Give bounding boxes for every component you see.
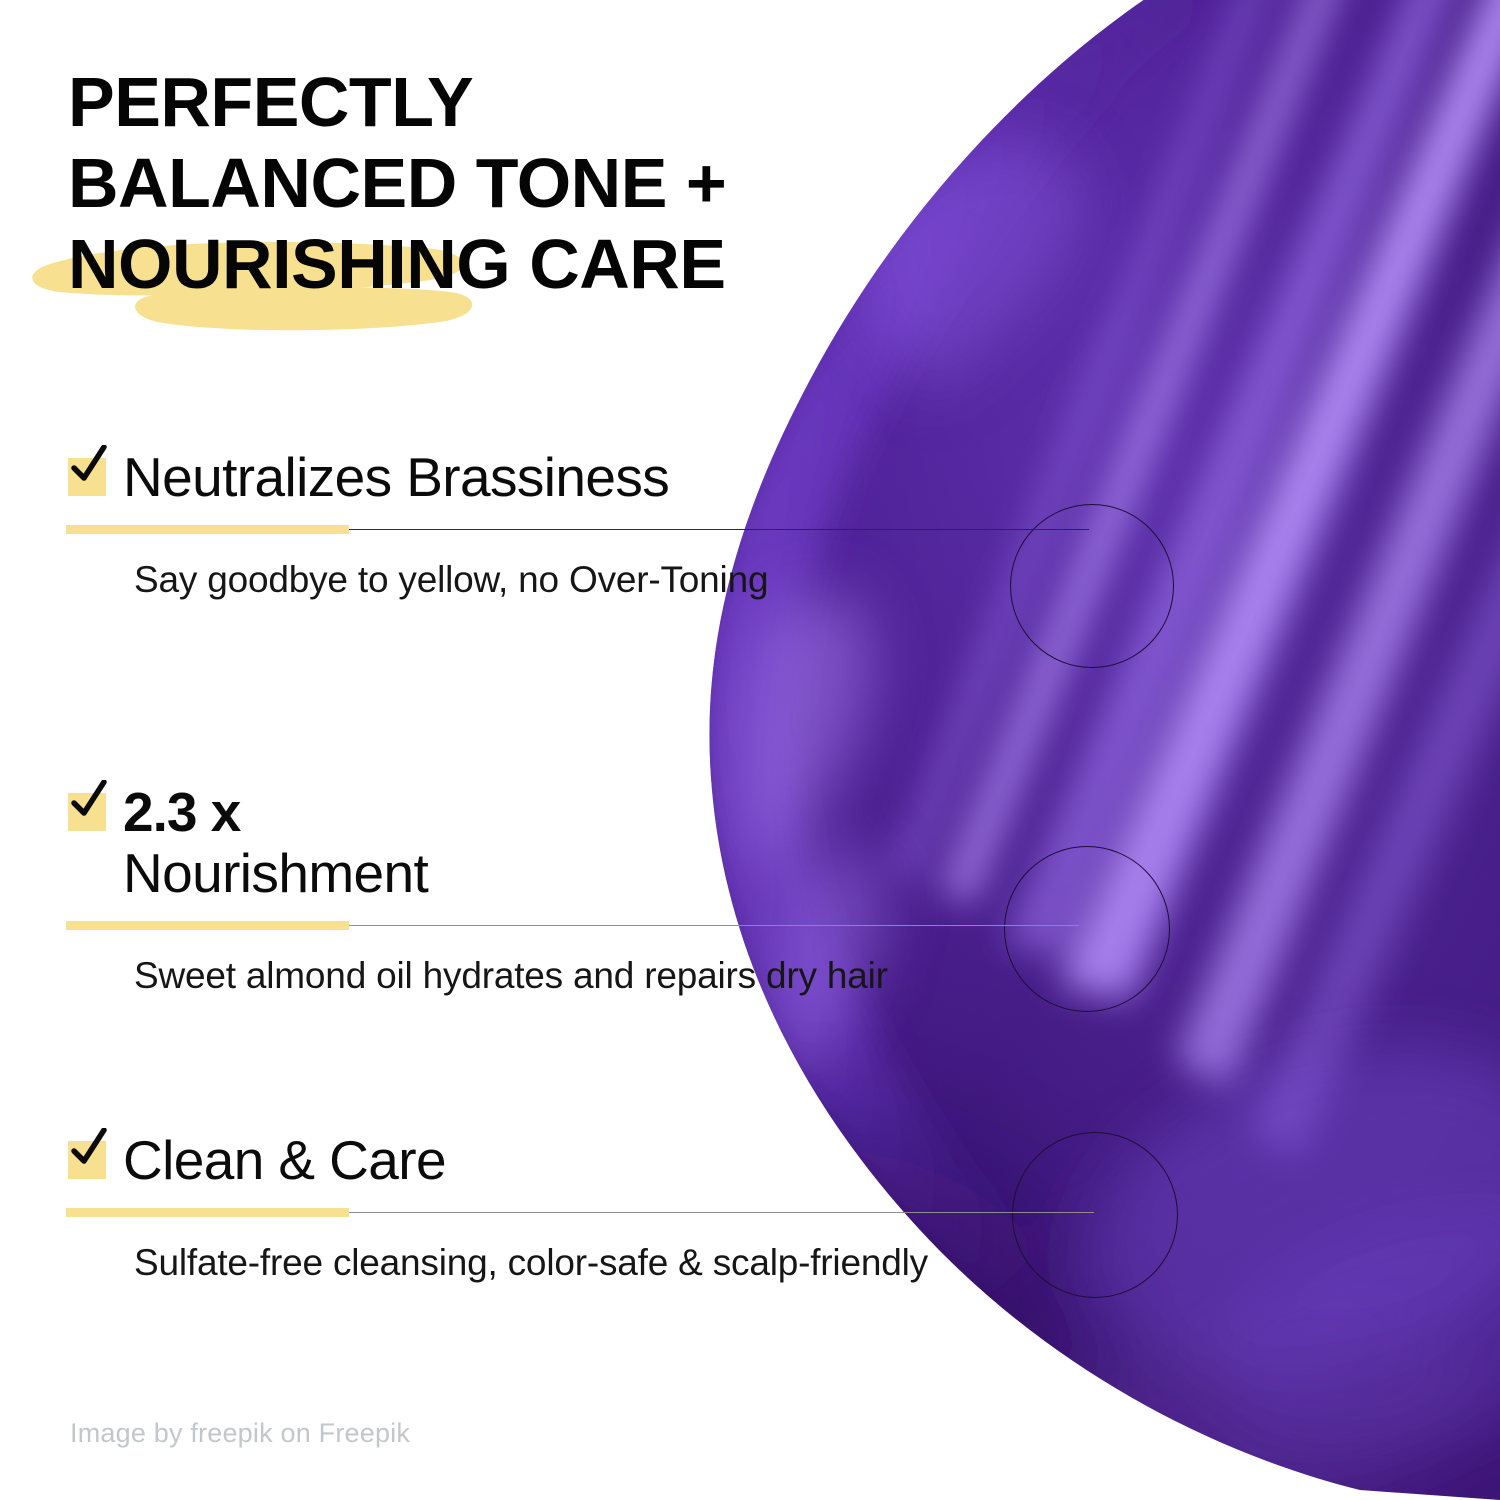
divider-accent: [66, 525, 349, 534]
divider-connector-line: [349, 1212, 1094, 1213]
feature-heading: 2.3 x Nourishment: [68, 782, 888, 904]
feature-divider: [66, 524, 768, 534]
feature-title: Neutralizes Brassiness: [123, 447, 669, 508]
check-icon: [71, 780, 107, 820]
check-icon: [71, 1128, 107, 1168]
headline-line-3: NOURISHING CARE: [68, 224, 968, 305]
infographic-canvas: PERFECTLY BALANCED TONE + NOURISHING CAR…: [0, 0, 1500, 1500]
feature-description: Sweet almond oil hydrates and repairs dr…: [134, 952, 888, 1000]
feature-item: Clean & Care Sulfate-free cleansing, col…: [68, 1130, 928, 1287]
divider-connector-line: [349, 529, 1089, 530]
headline-line-2: BALANCED TONE +: [68, 143, 968, 224]
feature-heading: Neutralizes Brassiness: [68, 447, 768, 508]
feature-item: 2.3 x Nourishment Sweet almond oil hydra…: [68, 782, 888, 1000]
checkbox-background: [68, 458, 106, 496]
callout-circle: [1012, 1132, 1178, 1298]
feature-title-text: Nourishment: [123, 842, 428, 904]
feature-divider: [66, 920, 888, 930]
feature-divider: [66, 1207, 928, 1217]
feature-title: Clean & Care: [123, 1130, 446, 1191]
divider-connector-line: [349, 925, 1079, 926]
page-title: PERFECTLY BALANCED TONE + NOURISHING CAR…: [68, 62, 968, 305]
checkbox-background: [68, 1141, 106, 1179]
divider-accent: [66, 1208, 349, 1217]
image-credit: Image by freepik on Freepik: [70, 1418, 410, 1449]
feature-description: Sulfate-free cleansing, color-safe & sca…: [134, 1239, 928, 1287]
feature-heading: Clean & Care: [68, 1130, 928, 1191]
divider-accent: [66, 921, 349, 930]
check-icon: [71, 445, 107, 485]
feature-title: 2.3 x Nourishment: [123, 782, 428, 904]
headline-line-1: PERFECTLY: [68, 62, 968, 143]
feature-description: Say goodbye to yellow, no Over-Toning: [134, 556, 768, 604]
feature-title-metric: 2.3 x: [123, 781, 240, 843]
callout-circle: [1004, 846, 1170, 1012]
checkbox-background: [68, 793, 106, 831]
feature-item: Neutralizes Brassiness Say goodbye to ye…: [68, 447, 768, 604]
